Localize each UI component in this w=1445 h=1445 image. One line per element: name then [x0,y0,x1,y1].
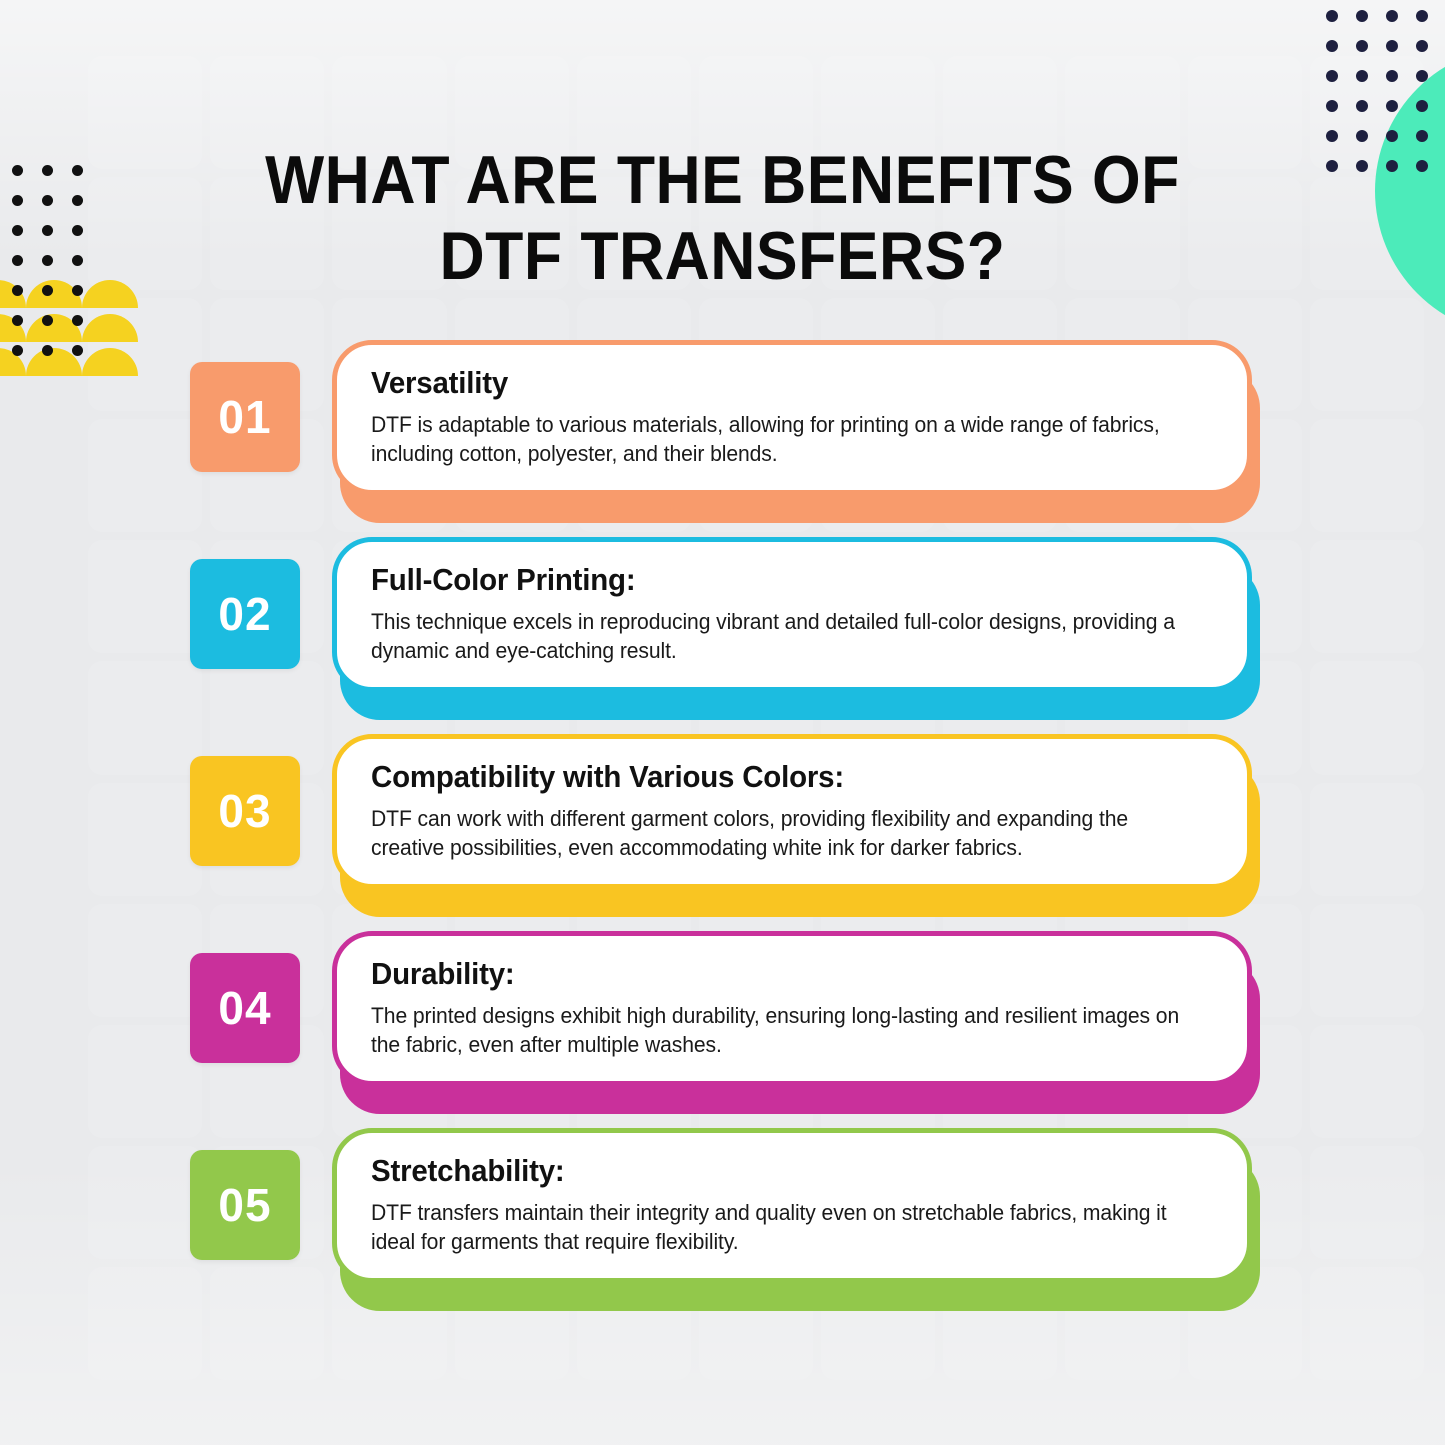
benefit-number-badge: 02 [190,559,300,669]
benefit-card-body: VersatilityDTF is adaptable to various m… [332,340,1252,495]
benefit-card-body: Durability:The printed designs exhibit h… [332,931,1252,1086]
benefit-title: Compatibility with Various Colors: [371,759,1171,795]
benefit-card-body: Stretchability:DTF transfers maintain th… [332,1128,1252,1283]
benefit-description: This technique excels in reproducing vib… [371,607,1179,665]
benefit-card: Stretchability:DTF transfers maintain th… [332,1128,1252,1308]
benefit-description: DTF transfers maintain their integrity a… [371,1198,1179,1256]
benefit-row: 03Compatibility with Various Colors:DTF … [0,734,1445,930]
benefit-description: DTF can work with different garment colo… [371,804,1179,862]
benefit-title: Versatility [371,365,1171,401]
benefit-card-body: Full-Color Printing:This technique excel… [332,537,1252,692]
benefit-card: Full-Color Printing:This technique excel… [332,537,1252,717]
benefit-row: 04Durability:The printed designs exhibit… [0,931,1445,1127]
benefit-title: Full-Color Printing: [371,562,1171,598]
benefit-card-body: Compatibility with Various Colors:DTF ca… [332,734,1252,889]
benefit-card: VersatilityDTF is adaptable to various m… [332,340,1252,520]
benefit-number-badge: 04 [190,953,300,1063]
benefit-title: Stretchability: [371,1153,1171,1189]
benefit-number-badge: 03 [190,756,300,866]
benefit-row: 05Stretchability:DTF transfers maintain … [0,1128,1445,1324]
benefit-title: Durability: [371,956,1171,992]
benefit-card: Compatibility with Various Colors:DTF ca… [332,734,1252,914]
benefit-row: 02Full-Color Printing:This technique exc… [0,537,1445,733]
benefit-card: Durability:The printed designs exhibit h… [332,931,1252,1111]
benefit-description: DTF is adaptable to various materials, a… [371,410,1179,468]
benefits-list: 01VersatilityDTF is adaptable to various… [0,0,1445,1445]
benefit-number-badge: 01 [190,362,300,472]
benefit-row: 01VersatilityDTF is adaptable to various… [0,340,1445,536]
benefit-number-badge: 05 [190,1150,300,1260]
benefit-description: The printed designs exhibit high durabil… [371,1001,1179,1059]
